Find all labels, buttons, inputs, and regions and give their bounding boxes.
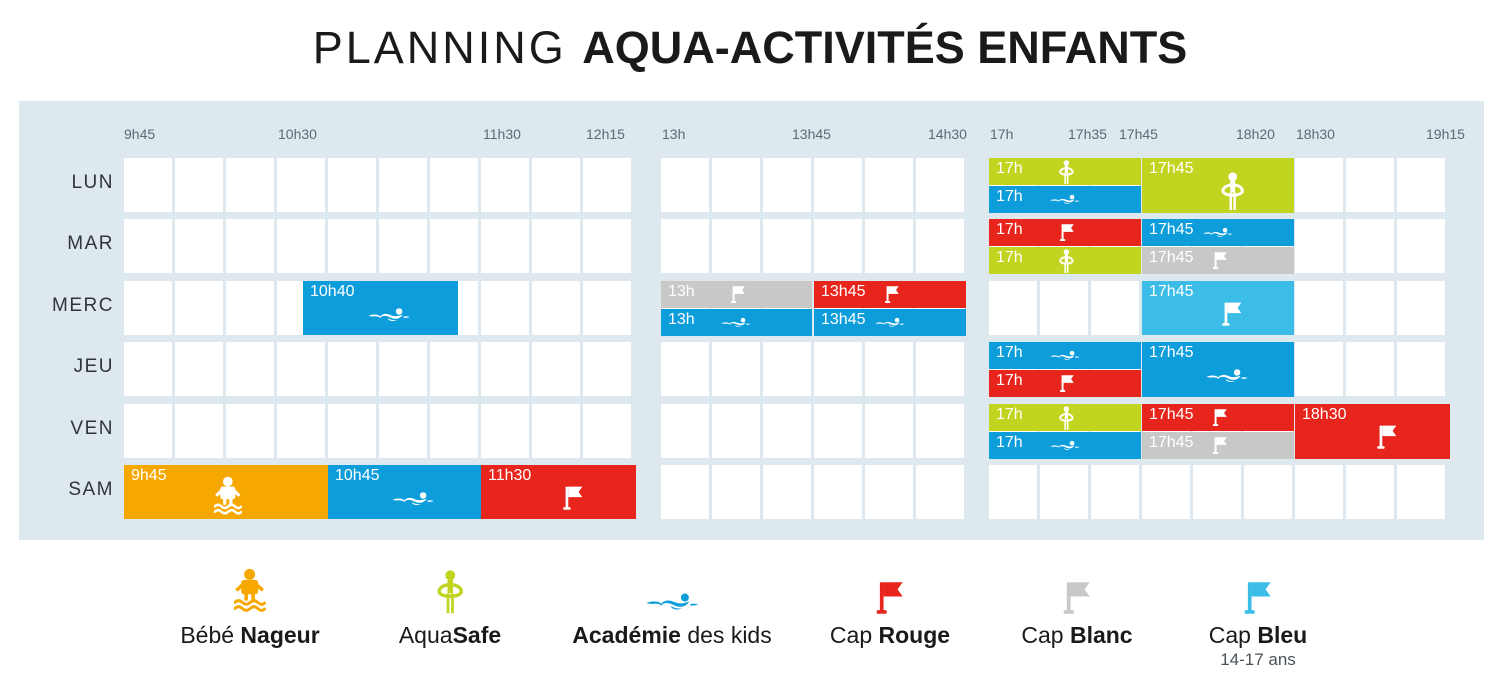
event-block-academie[interactable]: 17h (989, 432, 1141, 459)
swimmer-icon (646, 592, 699, 614)
flag-icon (562, 485, 584, 515)
flag-icon (1059, 374, 1075, 397)
grid-cell[interactable] (1295, 158, 1343, 212)
grid-cell[interactable] (175, 281, 223, 335)
flag-icon (1212, 408, 1228, 426)
grid-cell[interactable] (481, 342, 529, 396)
grid-cell[interactable] (989, 465, 1037, 519)
grid-cell[interactable] (430, 342, 478, 396)
flag-icon (1212, 436, 1228, 459)
grid-cell[interactable] (1295, 219, 1343, 273)
grid-cell[interactable] (1397, 342, 1445, 396)
flag-icon (1059, 223, 1075, 241)
grid-cell[interactable] (277, 219, 325, 273)
grid-cell[interactable] (124, 404, 172, 458)
page-title-bold: AQUA-ACTIVITÉS ENFANTS (582, 22, 1187, 73)
grid-cell[interactable] (1346, 219, 1394, 273)
grid-cell[interactable] (481, 158, 529, 212)
grid-cell[interactable] (328, 158, 376, 212)
event-time: 9h45 (131, 466, 167, 486)
grid-cell[interactable] (1397, 465, 1445, 519)
grid-cell[interactable] (1091, 281, 1139, 335)
swimmer-icon (392, 491, 434, 508)
grid-cell[interactable] (1346, 281, 1394, 335)
grid-cell[interactable] (379, 342, 427, 396)
flag-icon (1059, 223, 1075, 246)
grid-cell[interactable] (379, 219, 427, 273)
event-time: 17h (996, 248, 1023, 268)
event-time: 17h (996, 220, 1023, 240)
grid-cell[interactable] (532, 342, 580, 396)
aquasafe-icon (1059, 249, 1074, 273)
grid-cell[interactable] (712, 219, 760, 273)
grid-cell[interactable] (712, 342, 760, 396)
grid-cell[interactable] (328, 404, 376, 458)
grid-cell[interactable] (124, 281, 172, 335)
grid-cell[interactable] (916, 404, 964, 458)
event-time: 17h (996, 187, 1023, 207)
grid-cell[interactable] (865, 404, 913, 458)
grid-cell[interactable] (277, 404, 325, 458)
event-block-academie[interactable]: 17h45 (1142, 342, 1294, 397)
grid-cell[interactable] (124, 342, 172, 396)
event-time: 17h (996, 371, 1023, 391)
event-time: 17h (996, 433, 1023, 453)
event-block-cap_blanc[interactable]: 13h (661, 281, 812, 308)
event-block-cap_rouge[interactable]: 11h30 (481, 465, 636, 519)
event-time: 17h45 (1149, 220, 1194, 240)
grid-cell[interactable] (175, 404, 223, 458)
time-axis-label: 19h15 (1426, 126, 1465, 142)
event-block-cap_rouge[interactable]: 17h45 (1142, 404, 1294, 431)
flag-icon (1221, 301, 1243, 331)
aquasafe-icon (1221, 172, 1244, 210)
day-label-lun: LUN (19, 172, 114, 194)
grid-cell[interactable] (916, 465, 964, 519)
grid-cell[interactable] (175, 219, 223, 273)
event-block-bebe_nageur[interactable]: 9h45 (124, 465, 328, 519)
event-block-cap_rouge[interactable]: 17h (989, 370, 1141, 397)
time-axis-label: 12h15 (586, 126, 625, 142)
event-block-academie[interactable]: 13h45 (814, 309, 966, 336)
flag-icon (1212, 251, 1228, 269)
event-block-academie[interactable]: 17h45 (1142, 219, 1294, 246)
grid-cell[interactable] (865, 465, 913, 519)
grid-cell[interactable] (814, 219, 862, 273)
grid-cell[interactable] (175, 158, 223, 212)
grid-cell[interactable] (1142, 465, 1190, 519)
time-axis-label: 13h45 (792, 126, 831, 142)
time-axis-label: 13h (662, 126, 685, 142)
aquasafe-icon (1059, 160, 1074, 184)
event-time: 17h (996, 405, 1023, 425)
baby-swimmer-icon (214, 476, 242, 517)
legend-item[interactable]: Cap Blanc (982, 552, 1172, 649)
swimmer-icon (368, 307, 410, 324)
legend-label: Bébé Nageur (150, 622, 350, 649)
flag-icon (1243, 580, 1273, 615)
grid-cell[interactable] (532, 219, 580, 273)
event-block-academie[interactable]: 10h45 (328, 465, 481, 519)
flag-icon (875, 580, 905, 615)
flag-icon (1221, 301, 1243, 326)
flag-icon (1163, 552, 1353, 614)
grid-cell[interactable] (1295, 342, 1343, 396)
flag-icon (982, 552, 1172, 614)
swimmer-icon (1050, 440, 1080, 452)
grid-cell[interactable] (124, 158, 172, 212)
grid-cell[interactable] (481, 404, 529, 458)
time-axis-label: 17h (990, 126, 1013, 142)
event-block-cap_rouge[interactable]: 18h30 (1295, 404, 1450, 459)
legend-item[interactable]: Cap Rouge (795, 552, 985, 649)
day-label-merc: MERC (19, 295, 114, 317)
grid-cell[interactable] (763, 342, 811, 396)
grid-cell[interactable] (226, 281, 274, 335)
legend-label: Cap Bleu (1163, 622, 1353, 649)
aquasafe-icon (1059, 406, 1074, 430)
event-block-academie[interactable]: 17h (989, 186, 1141, 213)
grid-cell[interactable] (124, 219, 172, 273)
legend-item[interactable]: Cap Bleu14-17 ans (1163, 552, 1353, 670)
swimmer-icon (875, 317, 905, 329)
swimmer-icon (1206, 368, 1248, 390)
grid-cell[interactable] (1397, 158, 1445, 212)
swimmer-icon (721, 317, 751, 329)
grid-cell[interactable] (814, 465, 862, 519)
swimmer-icon (1050, 194, 1080, 206)
swimmer-icon (875, 316, 905, 334)
grid-cell[interactable] (430, 219, 478, 273)
grid-cell[interactable] (916, 219, 964, 273)
grid-cell[interactable] (1397, 281, 1445, 335)
swimmer-icon (368, 307, 410, 329)
grid-cell[interactable] (916, 158, 964, 212)
event-time: 17h (996, 343, 1023, 363)
event-time: 17h45 (1149, 159, 1194, 179)
time-axis-label: 10h30 (278, 126, 317, 142)
event-time: 17h45 (1149, 282, 1194, 302)
legend-item[interactable]: Académie des kids (552, 552, 792, 649)
legend-label: AquaSafe (355, 622, 545, 649)
grid-cell[interactable] (712, 465, 760, 519)
grid-cell[interactable] (661, 158, 709, 212)
legend-label: Cap Blanc (982, 622, 1172, 649)
grid-cell[interactable] (712, 404, 760, 458)
time-axis-label: 18h20 (1236, 126, 1275, 142)
flag-icon (1376, 424, 1398, 454)
time-axis-label: 17h35 (1068, 126, 1107, 142)
grid-cell[interactable] (583, 404, 631, 458)
event-block-aquasafe[interactable]: 17h (989, 158, 1141, 185)
legend-item[interactable]: Bébé Nageur (150, 552, 350, 649)
event-block-cap_blanc[interactable]: 17h45 (1142, 432, 1294, 459)
time-axis-label: 11h30 (483, 126, 521, 142)
swimmer-icon (552, 552, 792, 614)
event-block-academie[interactable]: 17h (989, 342, 1141, 369)
flag-icon (1212, 251, 1228, 274)
swimmer-icon (1206, 368, 1248, 385)
grid-cell[interactable] (481, 219, 529, 273)
grid-cell[interactable] (763, 158, 811, 212)
grid-cell[interactable] (661, 465, 709, 519)
grid-cell[interactable] (583, 219, 631, 273)
aquasafe-icon (1059, 406, 1074, 431)
grid-cell[interactable] (1346, 158, 1394, 212)
grid-cell[interactable] (481, 281, 529, 335)
grid-cell[interactable] (379, 404, 427, 458)
grid-cell[interactable] (1295, 465, 1343, 519)
baby-swimmer-icon (150, 552, 350, 614)
grid-cell[interactable] (532, 404, 580, 458)
grid-cell[interactable] (865, 158, 913, 212)
event-time: 13h45 (821, 310, 866, 330)
grid-cell[interactable] (814, 342, 862, 396)
grid-cell[interactable] (277, 158, 325, 212)
grid-cell[interactable] (661, 219, 709, 273)
flag-icon (562, 485, 584, 510)
flag-icon (1062, 580, 1092, 615)
swimmer-icon (1050, 349, 1080, 367)
flag-icon (1212, 436, 1228, 454)
event-block-cap_blanc[interactable]: 17h45 (1142, 247, 1294, 274)
grid-cell[interactable] (1091, 465, 1139, 519)
grid-cell[interactable] (226, 404, 274, 458)
swimmer-icon (1203, 227, 1233, 239)
flag-icon (1059, 374, 1075, 392)
grid-cell[interactable] (763, 404, 811, 458)
grid-cell[interactable] (175, 342, 223, 396)
grid-cell[interactable] (865, 342, 913, 396)
event-time: 17h45 (1149, 433, 1194, 453)
aquasafe-icon (355, 552, 545, 614)
grid-cell[interactable] (277, 342, 325, 396)
event-time: 18h30 (1302, 405, 1347, 425)
day-label-ven: VEN (19, 418, 114, 440)
grid-cell[interactable] (1040, 281, 1088, 335)
event-time: 13h45 (821, 282, 866, 302)
event-block-aquasafe[interactable]: 17h (989, 404, 1141, 431)
grid-cell[interactable] (712, 158, 760, 212)
grid-cell[interactable] (989, 281, 1037, 335)
flag-icon (884, 285, 900, 303)
swimmer-icon (1050, 350, 1080, 362)
event-time: 13h (668, 310, 695, 330)
event-time: 17h45 (1149, 343, 1194, 363)
event-block-cap_rouge[interactable]: 13h45 (814, 281, 966, 308)
flag-icon (730, 285, 746, 308)
flag-icon (795, 552, 985, 614)
grid-cell[interactable] (661, 404, 709, 458)
time-axis-label: 14h30 (928, 126, 967, 142)
swimmer-icon (392, 491, 434, 513)
aquasafe-icon (1059, 160, 1074, 185)
legend-item[interactable]: AquaSafe (355, 552, 545, 649)
flag-icon (1376, 424, 1398, 449)
time-axis-label: 17h45 (1119, 126, 1158, 142)
flag-icon (884, 285, 900, 308)
event-time: 11h30 (488, 466, 531, 486)
grid-cell[interactable] (532, 158, 580, 212)
grid-cell[interactable] (1193, 465, 1241, 519)
event-block-academie[interactable]: 10h40 (303, 281, 458, 335)
grid-cell[interactable] (1346, 342, 1394, 396)
grid-cell[interactable] (763, 465, 811, 519)
legend-label: Cap Rouge (795, 622, 985, 649)
page-title-thin: PLANNING (313, 22, 583, 73)
swimmer-icon (721, 316, 751, 334)
event-block-cap_bleu[interactable]: 17h45 (1142, 281, 1294, 335)
time-axis-label: 9h45 (124, 126, 155, 142)
grid-cell[interactable] (430, 158, 478, 212)
swimmer-icon (1050, 193, 1080, 211)
aquasafe-icon (437, 570, 464, 614)
swimmer-icon (1050, 439, 1080, 457)
grid-cell[interactable] (814, 158, 862, 212)
event-time: 17h (996, 159, 1023, 179)
grid-cell[interactable] (814, 404, 862, 458)
event-block-cap_rouge[interactable]: 17h (989, 219, 1141, 246)
baby-swimmer-icon (234, 568, 265, 614)
event-time: 17h45 (1149, 248, 1194, 268)
event-block-aquasafe[interactable]: 17h45 (1142, 158, 1294, 213)
grid-cell[interactable] (1040, 465, 1088, 519)
grid-cell[interactable] (1397, 219, 1445, 273)
event-time: 10h45 (335, 466, 380, 486)
grid-cell[interactable] (583, 158, 631, 212)
baby-swimmer-icon (214, 476, 242, 519)
event-block-academie[interactable]: 13h (661, 309, 812, 336)
grid-cell[interactable] (1295, 281, 1343, 335)
swimmer-icon (1203, 226, 1233, 244)
grid-cell[interactable] (583, 342, 631, 396)
aquasafe-icon (1059, 249, 1074, 274)
grid-cell[interactable] (1244, 465, 1292, 519)
grid-cell[interactable] (763, 219, 811, 273)
grid-cell[interactable] (865, 219, 913, 273)
grid-cell[interactable] (430, 404, 478, 458)
legend-sublabel: 14-17 ans (1163, 650, 1353, 670)
grid-cell[interactable] (328, 342, 376, 396)
grid-cell[interactable] (1346, 465, 1394, 519)
grid-cell[interactable] (583, 281, 631, 335)
grid-cell[interactable] (661, 342, 709, 396)
event-time: 13h (668, 282, 695, 302)
event-block-aquasafe[interactable]: 17h (989, 247, 1141, 274)
time-axis-label: 18h30 (1296, 126, 1335, 142)
grid-cell[interactable] (226, 158, 274, 212)
grid-cell[interactable] (226, 219, 274, 273)
event-time: 10h40 (310, 282, 355, 302)
page-title: PLANNING AQUA-ACTIVITÉS ENFANTS (0, 22, 1500, 74)
event-time: 17h45 (1149, 405, 1194, 425)
day-label-mar: MAR (19, 233, 114, 255)
day-label-sam: SAM (19, 479, 114, 501)
legend-label: Académie des kids (552, 622, 792, 649)
legend: Bébé Nageur AquaSafe Académie des kids C… (0, 552, 1500, 697)
grid-cell[interactable] (379, 158, 427, 212)
flag-icon (1212, 408, 1228, 431)
aquasafe-icon (1221, 172, 1244, 213)
flag-icon (730, 285, 746, 303)
grid-cell[interactable] (916, 342, 964, 396)
grid-cell[interactable] (328, 219, 376, 273)
day-label-jeu: JEU (19, 356, 114, 378)
grid-cell[interactable] (226, 342, 274, 396)
grid-cell[interactable] (532, 281, 580, 335)
